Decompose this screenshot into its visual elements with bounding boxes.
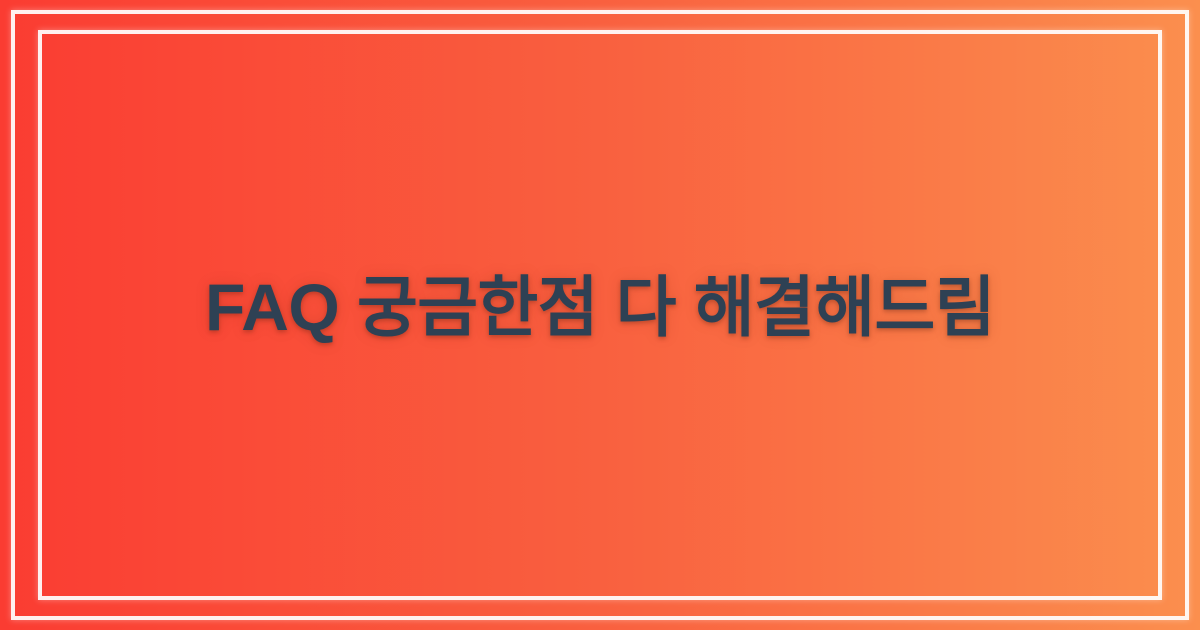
banner-card: FAQ 궁금한점 다 해결해드림 — [0, 0, 1200, 630]
banner-title: FAQ 궁금한점 다 해결해드림 — [205, 267, 995, 348]
banner-content: FAQ 궁금한점 다 해결해드림 — [0, 0, 1200, 630]
